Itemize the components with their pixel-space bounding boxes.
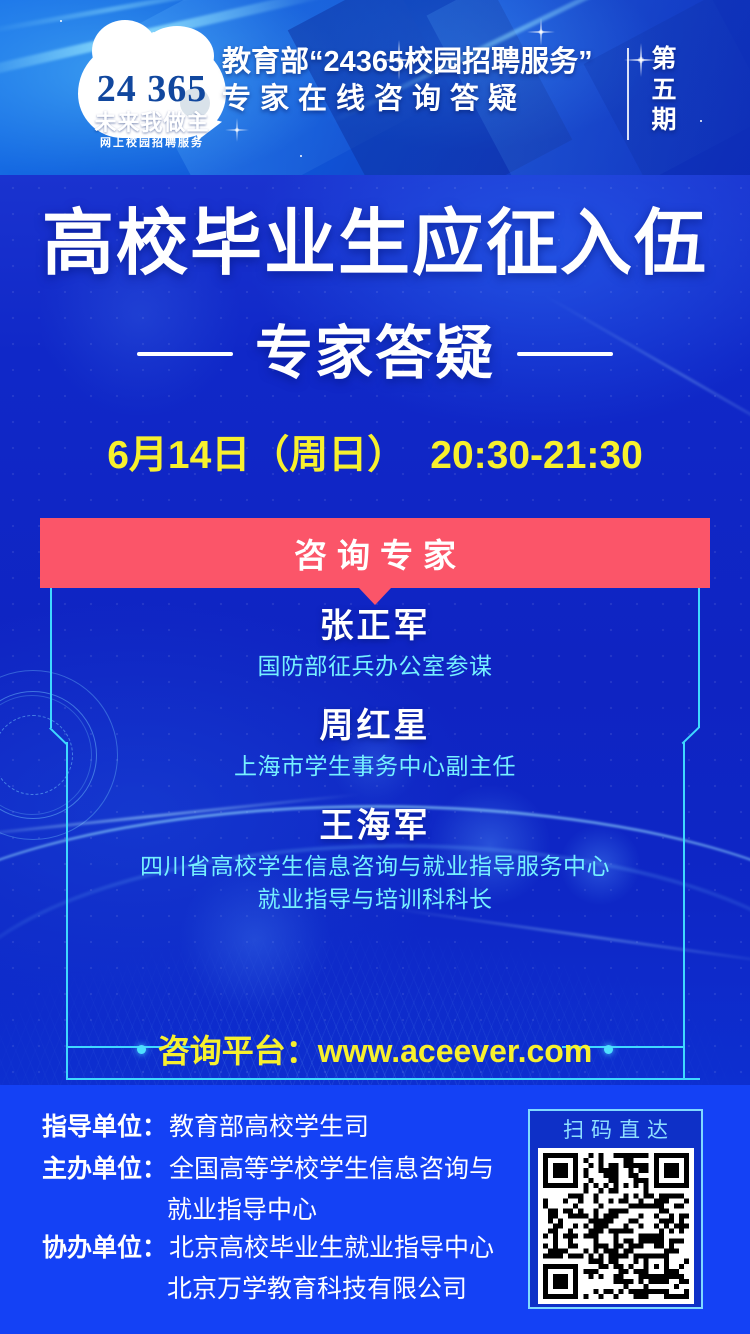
qr-container[interactable]: 扫码直达 [528,1109,703,1309]
star-dot [60,20,62,22]
organization-value: 教育部高校学生司 [169,1109,369,1147]
page-title: 高校毕业生应征入伍 [0,208,750,280]
organization-row: 协办单位： 北京高校毕业生就业指导中心 北京万学教育科技有限公司 [42,1230,512,1309]
accent-dot-icon [604,1045,613,1054]
organization-row: 主办单位： 全国高等学校学生信息咨询与 就业指导中心 [42,1151,512,1230]
accent-dot-icon [137,1045,146,1054]
sparkle-icon [236,118,237,142]
header-title: 教育部“24365校园招聘服务” 专家在线咨询答疑 [222,44,612,118]
logo-subtitle: 网上校园招聘服务 [78,138,226,149]
expert-name: 王海军 [0,804,750,850]
expert-role-line: 国防部征兵办公室参谋 [0,650,750,683]
organization-label: 协办单位： [42,1230,167,1268]
platform-url[interactable]: www.aceever.com [318,1033,593,1069]
header-issue-label: 第五期 [641,44,687,136]
platform-label: 咨询平台： [158,1033,318,1069]
expert-item: 张正军 国防部征兵办公室参谋 [0,604,750,682]
logo-number: 24 365 [78,70,226,108]
subtitle-row: 专家答疑 [0,325,750,383]
organization-value-cont: 北京万学教育科技有限公司 [167,1271,512,1309]
subtitle-dash-right [517,352,613,356]
logo-slogan: 未来我做主 [78,112,226,134]
consult-expert-banner: 咨询专家 [40,518,710,588]
qr-label: 扫码直达 [556,1116,675,1145]
expert-item: 王海军 四川省高校学生信息咨询与就业指导服务中心 就业指导与培训科科长 [0,804,750,915]
expert-list: 张正军 国防部征兵办公室参谋 周红星 上海市学生事务中心副主任 王海军 四川省高… [0,604,750,937]
organization-label: 指导单位： [42,1109,167,1147]
footer-band: 指导单位： 教育部高校学生司 主办单位： 全国高等学校学生信息咨询与 就业指导中… [0,1085,750,1334]
expert-name: 周红星 [0,704,750,750]
header-title-line1: 教育部“24365校园招聘服务” [222,44,612,81]
expert-name: 张正军 [0,604,750,650]
organization-row: 指导单位： 教育部高校学生司 [42,1109,512,1147]
star-dot [700,120,702,122]
page-subtitle: 专家答疑 [255,325,495,383]
expert-role-line: 就业指导与培训科科长 [0,883,750,916]
organization-label: 主办单位： [42,1151,167,1189]
star-dot [300,155,302,157]
consult-expert-label: 咨询专家 [284,529,466,577]
qr-code[interactable] [538,1148,694,1304]
header-band: 24 365 未来我做主 网上校园招聘服务 教育部“24365校园招聘服务” 专… [0,0,750,175]
organization-value-cont: 就业指导中心 [167,1192,512,1230]
organization-value: 全国高等学校学生信息咨询与 [169,1151,494,1189]
organization-value: 北京高校毕业生就业指导中心 [169,1230,494,1268]
expert-role-line: 四川省高校学生信息咨询与就业指导服务中心 [0,850,750,883]
expert-role-line: 上海市学生事务中心副主任 [0,750,750,783]
event-datetime: 6月14日（周日）20:30-21:30 [0,424,750,480]
brand-logo: 24 365 未来我做主 网上校园招聘服务 [78,36,226,154]
header-title-line2: 专家在线咨询答疑 [222,81,612,118]
expert-item: 周红星 上海市学生事务中心副主任 [0,704,750,782]
qr-code-svg [543,1153,689,1299]
sparkle-icon [540,18,541,46]
subtitle-dash-left [137,352,233,356]
platform-row: 咨询平台：www.aceever.com [0,1026,750,1072]
poster-root: 24 365 未来我做主 网上校园招聘服务 教育部“24365校园招聘服务” 专… [0,0,750,1334]
event-date: 6月14日（周日） [107,434,406,477]
organizations-list: 指导单位： 教育部高校学生司 主办单位： 全国高等学校学生信息咨询与 就业指导中… [42,1109,512,1309]
event-time: 20:30-21:30 [430,434,642,477]
header-divider [627,48,629,140]
platform-text[interactable]: 咨询平台：www.aceever.com [158,1026,593,1072]
banner-pointer-triangle [359,588,391,605]
